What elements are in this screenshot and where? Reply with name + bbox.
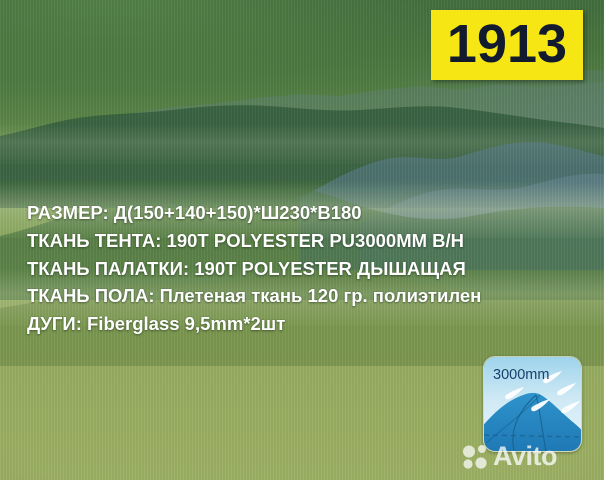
spec-line-fly-fabric: ТКАНЬ ТЕНТА: 190T POLYESTER PU3000MM В/Н (27, 227, 577, 255)
spec-line-size: РАЗМЕР: Д(150+140+150)*Ш230*В180 (27, 199, 577, 227)
waterproof-rating-text: 3000mm (493, 367, 549, 383)
model-number-sticker: 1913 (431, 10, 583, 80)
model-number-text: 1913 (447, 17, 567, 71)
spec-line-floor-fabric: ТКАНЬ ПОЛА: Плетеная ткань 120 гр. полиэ… (27, 282, 577, 310)
waterproof-rating-icon: 3000mm (483, 356, 582, 452)
product-spec-image: 1913 РАЗМЕР: Д(150+140+150)*Ш230*В180 ТК… (0, 0, 604, 480)
spec-line-poles: ДУГИ: Fiberglass 9,5mm*2шт (27, 310, 577, 338)
spec-line-tent-fabric: ТКАНЬ ПАЛАТКИ: 190T POLYESTER ДЫШАЩАЯ (27, 255, 577, 283)
specification-text-block: РАЗМЕР: Д(150+140+150)*Ш230*В180 ТКАНЬ Т… (27, 199, 577, 338)
